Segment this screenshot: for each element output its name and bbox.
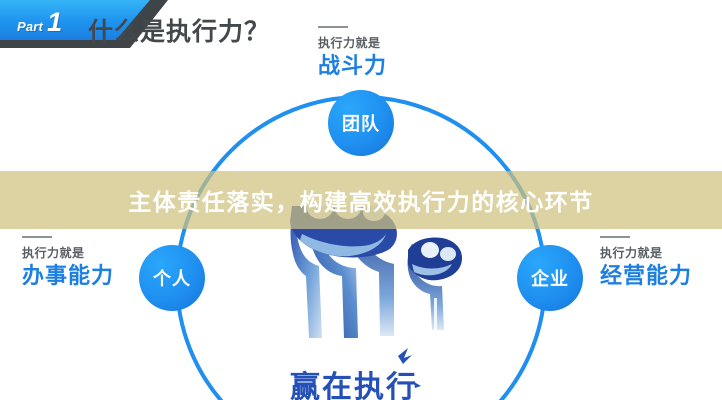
callout-left-prefix: 执行力就是 [22, 244, 114, 261]
callout-left-term: 办事能力 [22, 263, 114, 288]
callout-top-term: 战斗力 [318, 53, 387, 78]
slide-canvas: Part 1 什么是执行力？ [0, 0, 722, 400]
part-badge-label: Part 1 [17, 9, 62, 36]
artwork-caption: 赢在执行 [290, 362, 418, 400]
callout-left-rule [22, 236, 52, 238]
diagram-node-company[interactable]: 企业 [517, 245, 583, 311]
callout-right-rule [600, 236, 630, 238]
diagram-node-person[interactable]: 个人 [139, 245, 205, 311]
part-word: Part [17, 19, 43, 34]
callout-top: 执行力就是 战斗力 [318, 26, 387, 78]
diagram-node-team[interactable]: 团队 [328, 90, 394, 156]
callout-top-rule [318, 26, 348, 28]
diagram-node-person-label: 个人 [153, 265, 191, 291]
diagram-node-team-label: 团队 [342, 110, 380, 136]
page-title: 什么是执行力？ [88, 12, 270, 48]
callout-top-prefix: 执行力就是 [318, 34, 387, 51]
part-number: 1 [47, 9, 62, 36]
callout-right: 执行力就是 经营能力 [600, 236, 692, 288]
callout-right-prefix: 执行力就是 [600, 244, 692, 261]
callout-right-term: 经营能力 [600, 263, 692, 288]
callout-left: 执行力就是 办事能力 [22, 236, 114, 288]
overlay-headline: 主体责任落实，构建高效执行力的核心环节 [0, 171, 722, 229]
diagram-node-company-label: 企业 [531, 265, 569, 291]
